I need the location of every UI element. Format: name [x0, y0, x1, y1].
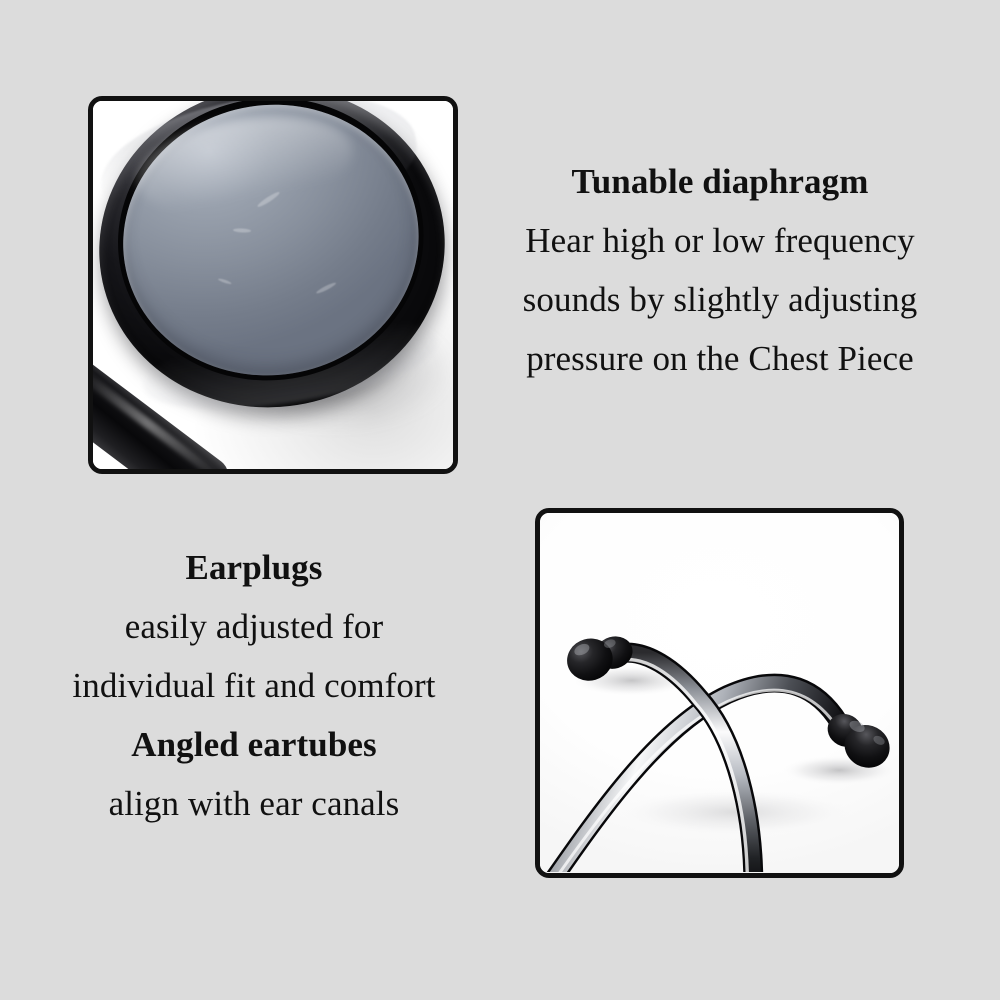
angled-eartubes-heading: Angled eartubes — [18, 715, 490, 774]
eartubes-photo-panel — [535, 508, 904, 878]
chest-piece-photo-inner — [93, 101, 453, 469]
diaphragm-surface-mark — [315, 281, 336, 295]
eartubes-illustration — [540, 513, 899, 872]
earplugs-body-line-2: individual fit and comfort — [18, 656, 490, 715]
tunable-diaphragm-body-line-1: Hear high or low frequency — [470, 211, 970, 270]
tunable-diaphragm-text-block: Tunable diaphragm Hear high or low frequ… — [470, 152, 970, 388]
chest-piece-photo-panel — [88, 96, 458, 474]
infographic-stage: Tunable diaphragm Hear high or low frequ… — [0, 0, 1000, 1000]
earpieces-text-block: Earplugs easily adjusted for individual … — [18, 538, 490, 833]
diaphragm-surface-mark — [218, 278, 232, 285]
angled-eartubes-body-line-1: align with ear canals — [18, 774, 490, 833]
earplugs-heading: Earplugs — [18, 538, 490, 597]
tunable-diaphragm-heading: Tunable diaphragm — [470, 152, 970, 211]
eartubes-photo-inner — [540, 513, 899, 873]
diaphragm-surface-mark — [233, 228, 251, 233]
tunable-diaphragm-body-line-3: pressure on the Chest Piece — [470, 329, 970, 388]
tunable-diaphragm-body-line-2: sounds by slightly adjusting — [470, 270, 970, 329]
earplugs-body-line-1: easily adjusted for — [18, 597, 490, 656]
